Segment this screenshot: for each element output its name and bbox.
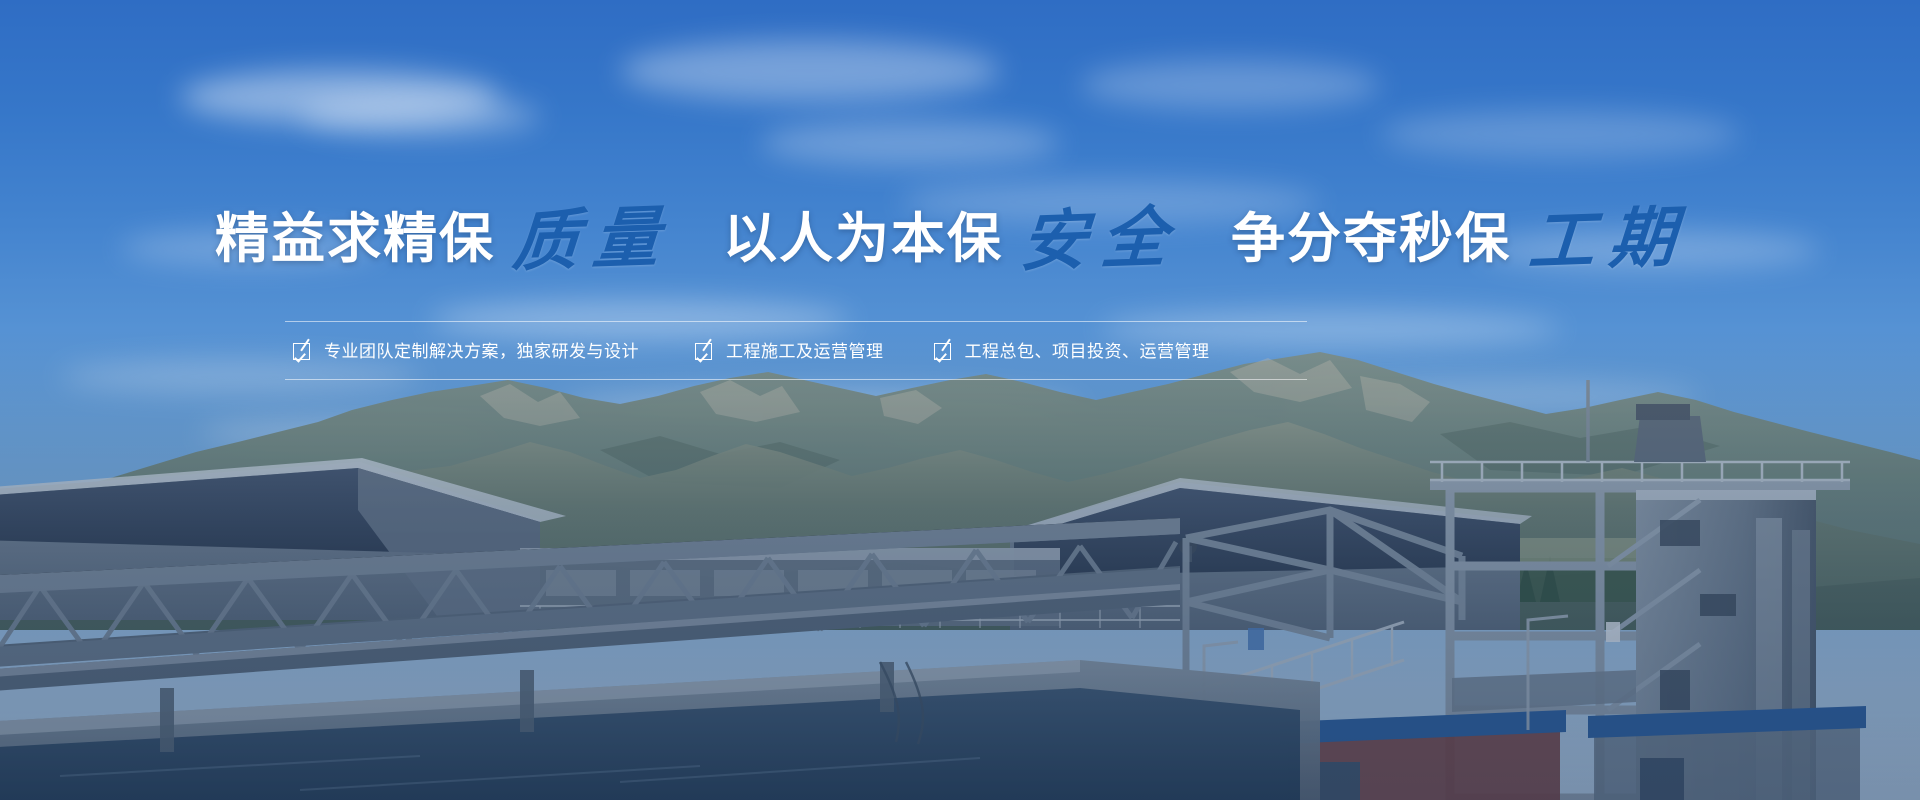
headline: 精益求精保 质量 以人为本保 安全 争分夺秒保 工期 <box>0 196 1920 282</box>
headline-segment-brush-schedule: 工期 <box>1508 203 1707 276</box>
headline-segment-brush-safety: 安全 <box>1000 203 1199 276</box>
divider-bottom <box>285 379 1307 380</box>
feature-list: 专业团队定制解决方案，独家研发与设计 工程施工及运营管理 工程总包、项目投资、运… <box>285 330 1307 372</box>
checkbox-checked-icon <box>293 343 310 360</box>
cloud <box>1080 60 1380 110</box>
cloud <box>760 120 1060 166</box>
cloud <box>300 96 540 136</box>
feature-item-construction[interactable]: 工程施工及运营管理 <box>695 343 884 360</box>
feature-label: 工程总包、项目投资、运营管理 <box>965 343 1210 360</box>
feature-label: 专业团队定制解决方案，独家研发与设计 <box>324 343 639 360</box>
feature-item-solution[interactable]: 专业团队定制解决方案，独家研发与设计 <box>293 343 639 360</box>
headline-segment-plain-2: 以人为本保 <box>723 212 1003 266</box>
checkbox-checked-icon <box>934 343 951 360</box>
hero-banner: 精益求精保 质量 以人为本保 安全 争分夺秒保 工期 专业团队定制解决方案，独家… <box>0 0 1920 800</box>
divider-top <box>285 321 1307 322</box>
blue-roof-building <box>1280 706 1866 800</box>
headline-segment-plain-1: 精益求精保 <box>215 212 495 266</box>
headline-segment-plain-3: 争分夺秒保 <box>1231 212 1511 266</box>
feature-label: 工程施工及运营管理 <box>726 343 884 360</box>
plant-building-left <box>0 458 566 620</box>
cloud <box>1380 110 1740 158</box>
checkbox-checked-icon <box>695 343 712 360</box>
headline-segment-brush-quality: 质量 <box>492 203 691 276</box>
cloud <box>620 40 1000 102</box>
industrial-plant-foreground <box>0 370 1920 800</box>
feature-item-epc[interactable]: 工程总包、项目投资、运营管理 <box>934 343 1210 360</box>
